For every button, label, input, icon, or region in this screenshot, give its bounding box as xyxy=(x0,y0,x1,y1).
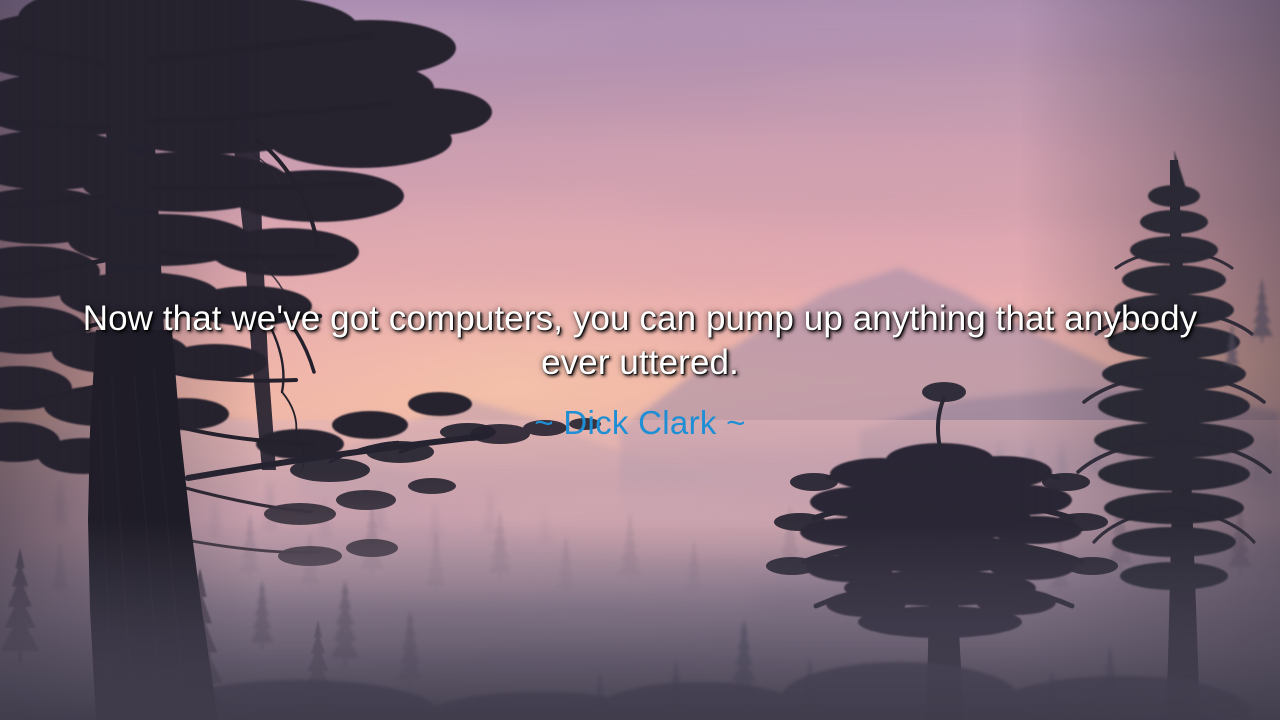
forest-sunset-background-image xyxy=(0,0,1280,720)
quote-wallpaper: Now that we've got computers, you can pu… xyxy=(0,0,1280,720)
